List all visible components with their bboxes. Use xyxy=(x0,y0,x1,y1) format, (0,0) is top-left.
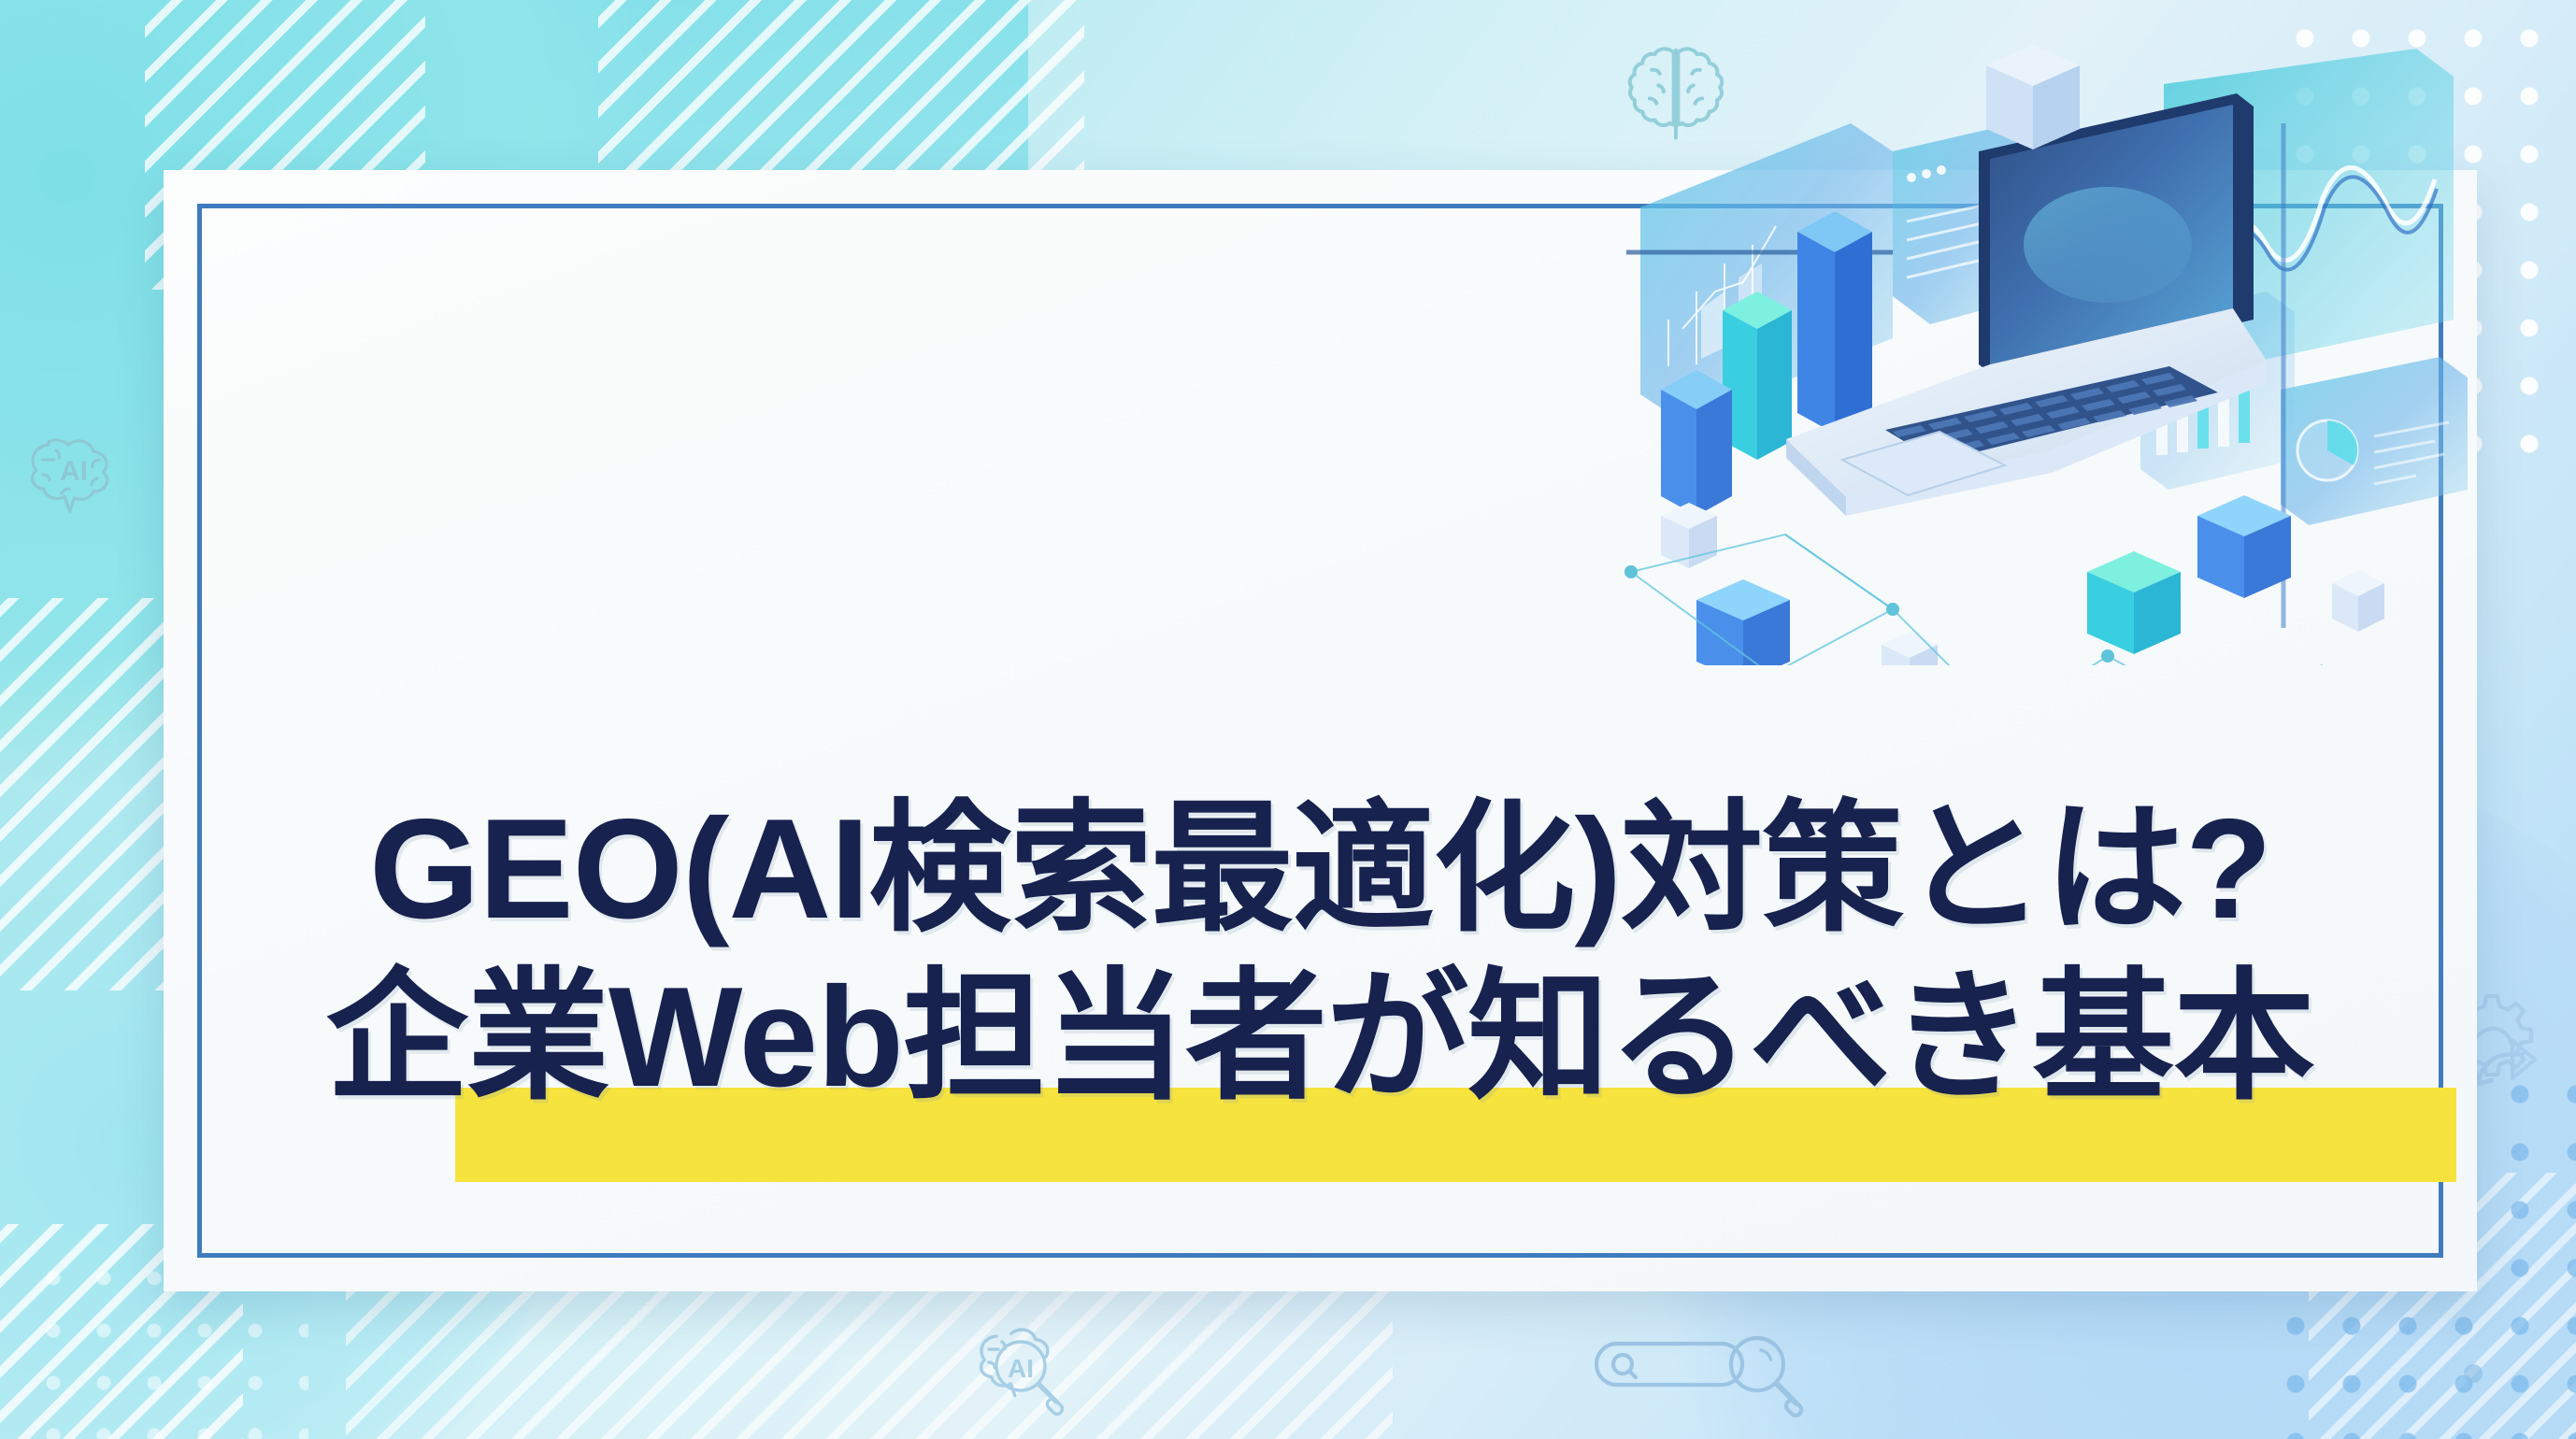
title-line2-wrap: 企業Web担当者が知るべき基本 xyxy=(164,955,2477,1119)
title-line1-wrap: GEO(AI検索最適化)対策とは? xyxy=(164,787,2477,951)
page-title-line2: 企業Web担当者が知るべき基本 xyxy=(164,955,2477,1119)
thumbnail-canvas: AI AI xyxy=(0,0,2576,1439)
page-title-line1: GEO(AI検索最適化)対策とは? xyxy=(164,787,2477,951)
content-card: GEO(AI検索最適化)対策とは? 企業Web担当者が知るべき基本 xyxy=(164,170,2477,1291)
